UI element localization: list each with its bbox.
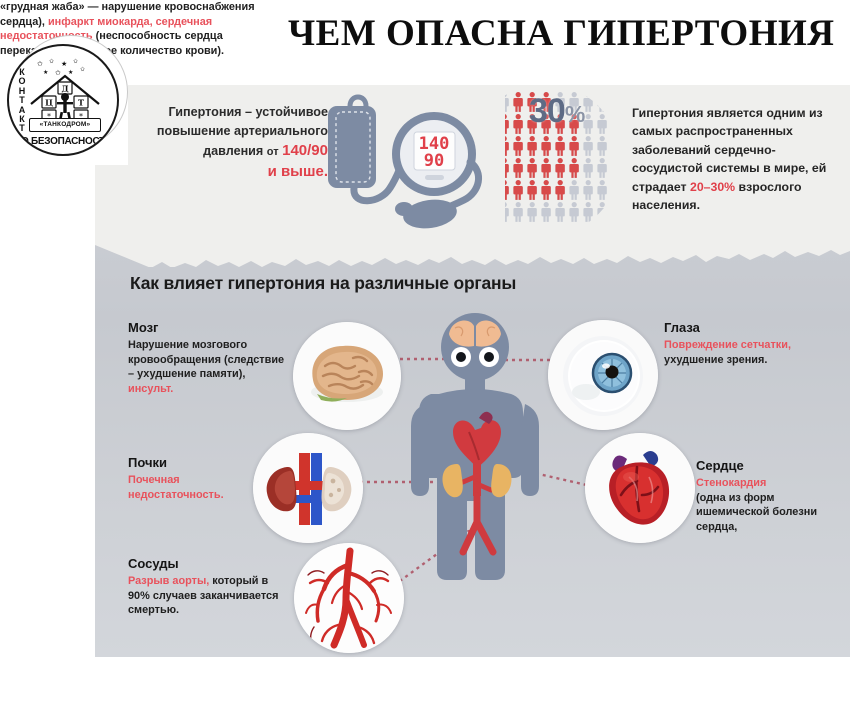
organ-block-heart: Сердце Стенокардия(одна из форм ишемичес…	[696, 458, 846, 534]
organ-block-brain: Мозг Нарушение мозгового кровообращения …	[128, 320, 293, 396]
intro-line-2: повышение артериального	[157, 124, 328, 138]
intro-line-1: Гипертония – устойчивое	[168, 105, 328, 119]
eyes-text: ухудшение зрения.	[664, 354, 767, 366]
svg-text:✩: ✩	[73, 58, 79, 65]
brain-text: Нарушение мозгового кровообращения (след…	[128, 339, 284, 380]
organ-block-vessels: Сосуды Разрыв аорты, который в 90% случа…	[128, 556, 293, 618]
kidneys-description: Почечная недостаточность.	[128, 473, 278, 502]
eyes-highlight: Повреждение сетчатки,	[664, 339, 791, 351]
heart-text-1: (одна из форм ишемической болезни сердца…	[696, 492, 817, 533]
svg-text:Т: Т	[78, 98, 84, 108]
brain-highlight: инсульт.	[128, 383, 173, 395]
percent-number: 30	[529, 92, 565, 130]
vessels-heading: Сосуды	[128, 556, 293, 571]
intro-preposition: от	[267, 146, 279, 158]
svg-text:★: ★	[61, 60, 68, 68]
vessels-description: Разрыв аорты, который в 90% случаев зака…	[128, 574, 293, 618]
heart-description-top: Стенокардия(одна из форм ишемической бол…	[696, 476, 846, 534]
svg-text:Д: Д	[61, 84, 68, 94]
kidneys-heading: Почки	[128, 455, 278, 470]
brain-description: Нарушение мозгового кровообращения (след…	[128, 338, 293, 396]
heart-highlight-1: Стенокардия	[696, 477, 766, 489]
logo-plaque: «ТАНКОДРОМ»	[29, 118, 101, 132]
percent-sign: %	[565, 101, 584, 127]
logo-vertical-word: К О Н Т А К Т	[15, 68, 29, 134]
brain-heading: Мозг	[128, 320, 293, 335]
svg-text:Ц: Ц	[45, 98, 53, 108]
logo-bottom-text: ПО БЕЗОПАСНОСТИ	[9, 136, 117, 147]
organ-block-eyes: Глаза Повреждение сетчатки, ухудшение зр…	[664, 320, 819, 367]
slide-canvas: ✩ ✩ ★ ✩ ★ ✩ ★ ✩ Д Ц	[0, 0, 859, 727]
section-heading: Как влияет гипертония на различные орган…	[130, 273, 516, 294]
kidneys-highlight: Почечная недостаточность.	[128, 474, 224, 501]
logo-letter: Т	[15, 124, 29, 133]
percent-badge: 30%	[529, 92, 584, 131]
logo-inner-ring: ✩ ✩ ★ ✩ ★ ✩ ★ ✩ Д Ц	[7, 44, 119, 156]
svg-text:✩: ✩	[36, 60, 44, 68]
heart-photo-circle	[585, 433, 695, 543]
intro-text-block: Гипертония – устойчивое повышение артери…	[130, 103, 328, 182]
svg-text:90: 90	[424, 151, 444, 171]
statistic-highlight: 20–30%	[690, 180, 735, 194]
blood-pressure-monitor-icon: 140 90	[318, 88, 523, 233]
blood-vessels-photo-circle	[294, 543, 404, 653]
human-body-figure	[395, 312, 555, 642]
eyes-heading: Глаза	[664, 320, 819, 335]
statistic-paragraph: Гипертония является одним из самых распр…	[632, 104, 844, 214]
organization-logo: ✩ ✩ ★ ✩ ★ ✩ ★ ✩ Д Ц	[6, 33, 128, 159]
heart-heading: Сердце	[696, 458, 846, 473]
eye-photo-circle	[548, 320, 658, 430]
organ-block-kidneys: Почки Почечная недостаточность.	[128, 455, 278, 502]
svg-text:✩: ✩	[49, 58, 55, 65]
torn-paper-edge	[95, 245, 850, 267]
eyes-description: Повреждение сетчатки, ухудшение зрения.	[664, 338, 819, 367]
vessels-highlight: Разрыв аорты,	[128, 575, 209, 587]
intro-line-3: давления	[203, 144, 263, 158]
brain-photo-circle	[293, 322, 401, 430]
page-title: ЧЕМ ОПАСНА ГИПЕРТОНИЯ	[288, 12, 853, 56]
